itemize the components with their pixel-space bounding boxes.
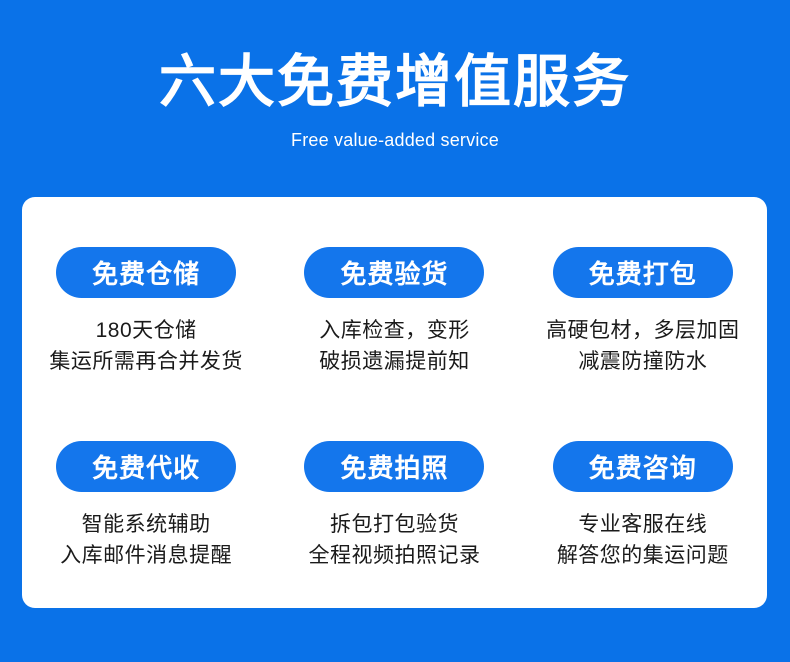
service-item-free-storage[interactable]: 免费仓储 180天仓储 集运所需再合并发货 [22, 197, 270, 377]
page-title: 六大免费增值服务 [0, 52, 790, 114]
service-desc-line-2: 集运所需再合并发货 [49, 346, 243, 377]
service-desc-line-1: 拆包打包验货 [308, 509, 480, 540]
service-pill-free-collection[interactable]: 免费代收 [56, 441, 236, 492]
service-pill-free-photo[interactable]: 免费拍照 [304, 441, 484, 492]
service-desc-line-2: 破损遗漏提前知 [319, 346, 470, 377]
service-desc-line-2: 全程视频拍照记录 [308, 540, 480, 571]
service-desc-line-1: 高硬包材，多层加固 [546, 315, 740, 346]
service-desc-free-collection: 智能系统辅助 入库邮件消息提醒 [60, 509, 232, 571]
service-desc-line-1: 智能系统辅助 [60, 509, 232, 540]
promo-banner: 六大免费增值服务 Free value-added service 免费仓储 1… [0, 0, 790, 662]
service-pill-free-storage[interactable]: 免费仓储 [56, 247, 236, 298]
service-item-free-photo[interactable]: 免费拍照 拆包打包验货 全程视频拍照记录 [270, 403, 518, 571]
service-item-free-packing[interactable]: 免费打包 高硬包材，多层加固 减震防撞防水 [519, 197, 767, 377]
header-block: 六大免费增值服务 Free value-added service [0, 0, 790, 151]
service-desc-free-inspection: 入库检查，变形 破损遗漏提前知 [319, 315, 470, 377]
service-item-free-collection[interactable]: 免费代收 智能系统辅助 入库邮件消息提醒 [22, 403, 270, 571]
service-desc-line-2: 减震防撞防水 [546, 346, 740, 377]
service-desc-line-2: 入库邮件消息提醒 [60, 540, 232, 571]
page-subtitle: Free value-added service [0, 130, 790, 152]
service-desc-line-1: 专业客服在线 [557, 509, 729, 540]
service-pill-free-consultation[interactable]: 免费咨询 [553, 441, 733, 492]
service-desc-free-packing: 高硬包材，多层加固 减震防撞防水 [546, 315, 740, 377]
services-card-panel: 免费仓储 180天仓储 集运所需再合并发货 免费验货 入库检查，变形 破损遗漏提… [22, 197, 767, 608]
service-desc-free-consultation: 专业客服在线 解答您的集运问题 [557, 509, 729, 571]
services-grid: 免费仓储 180天仓储 集运所需再合并发货 免费验货 入库检查，变形 破损遗漏提… [22, 197, 767, 608]
service-desc-line-1: 180天仓储 [49, 315, 243, 346]
service-pill-free-inspection[interactable]: 免费验货 [304, 247, 484, 298]
service-desc-line-2: 解答您的集运问题 [557, 540, 729, 571]
service-pill-free-packing[interactable]: 免费打包 [553, 247, 733, 298]
service-item-free-inspection[interactable]: 免费验货 入库检查，变形 破损遗漏提前知 [270, 197, 518, 377]
service-desc-free-photo: 拆包打包验货 全程视频拍照记录 [308, 509, 480, 571]
service-desc-free-storage: 180天仓储 集运所需再合并发货 [49, 315, 243, 377]
service-desc-line-1: 入库检查，变形 [319, 315, 470, 346]
service-item-free-consultation[interactable]: 免费咨询 专业客服在线 解答您的集运问题 [519, 403, 767, 571]
